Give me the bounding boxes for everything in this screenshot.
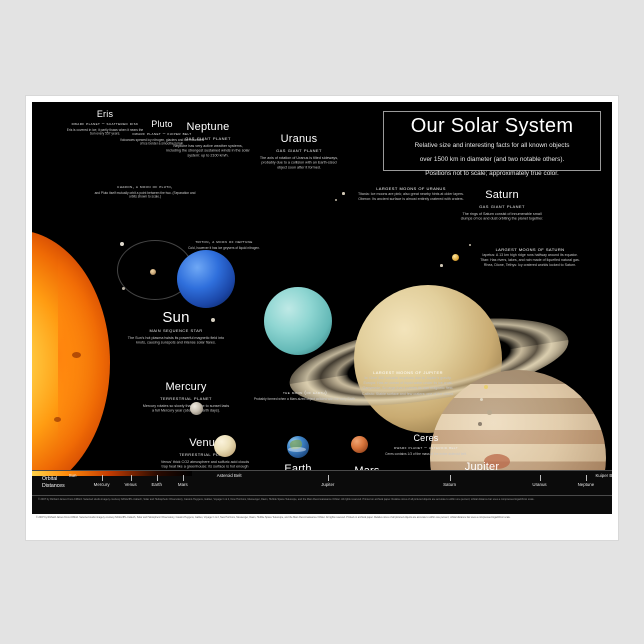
uranus-description: The axis of rotation of Uranus is tilted… <box>258 156 340 170</box>
poster-subtitle-1: Relative size and interesting facts for … <box>384 141 600 151</box>
titan-dot <box>452 254 459 261</box>
orbital-label-jupiter: Jupiter <box>321 482 334 488</box>
mercury-body <box>190 402 203 415</box>
charon-name: Charon, a Moon of Pluto, <box>90 184 200 190</box>
moon-description: Probably formed when a Mars-sized object… <box>253 397 358 401</box>
earth-clouds <box>288 447 306 452</box>
footer-credits-text: © 2007 by Richard James Knox-Clifford. S… <box>36 516 608 520</box>
orbital-tick <box>586 475 587 481</box>
orbital-tick <box>102 475 103 481</box>
poster-footer-white: © 2007 by Richard James Knox-Clifford. S… <box>32 514 612 534</box>
saturn-description: The rings of Saturn consist of innumerab… <box>458 212 545 221</box>
orbital-label-venus: Venus <box>124 482 136 488</box>
orbital-label-saturn: Saturn <box>443 482 456 488</box>
rhea-dot <box>469 244 471 246</box>
ganymede-dot <box>487 410 492 415</box>
orbital-label-mars: Mars <box>178 482 188 488</box>
moon-list-saturn: Largest Moons of Saturn Iapetus: A 13 km… <box>452 247 608 269</box>
neptune-description: Neptune has very active weather systems,… <box>166 144 250 158</box>
mercury-name: Mercury <box>140 382 232 394</box>
sun-description: The Sun's hot plasma twists its powerful… <box>127 336 226 345</box>
sunspot <box>54 417 61 422</box>
caption-uranus: Uranus Gas Giant Planet The axis of rota… <box>256 134 342 171</box>
orbital-title-line-2: Distances <box>42 483 65 489</box>
charon-body <box>122 287 125 290</box>
uranus-class: Gas Giant Planet <box>256 148 342 154</box>
caption-ceres: Ceres Dwarf Planet – Asteroid Belt Ceres… <box>378 434 474 456</box>
caption-sun: Sun Main Sequence Star The Sun's hot pla… <box>124 310 228 346</box>
saturn-name: Saturn <box>456 190 548 202</box>
caption-triton: Triton, a Moon of Neptune Cold, however … <box>172 237 276 250</box>
triton-name: Triton, a Moon of Neptune <box>172 239 276 245</box>
orbital-tick <box>450 475 451 481</box>
orbital-tick <box>183 475 184 481</box>
caption-saturn: Saturn Gas Giant Planet The rings of Sat… <box>456 190 548 222</box>
io-dot <box>484 385 488 389</box>
saturn-class: Gas Giant Planet <box>456 204 548 210</box>
charon-description: and Pluto itself mutually orbit a point … <box>93 191 198 199</box>
orbital-tick <box>157 475 158 481</box>
venus-class: Terrestrial Planet <box>158 452 252 458</box>
ceres-description: Ceres contains 1/3 of the mass of the en… <box>380 452 471 456</box>
poster-frame: Our Solar System Relative size and inter… <box>26 96 618 540</box>
neptune-body <box>177 250 235 308</box>
orbital-label-earth: Earth <box>151 482 162 488</box>
caption-moon: The Moon (of Earth) Probably formed when… <box>250 388 360 401</box>
orbital-title: Orbital Distances <box>42 476 65 490</box>
orbital-distance-bar: Orbital Distances Sun Mercury Venus Eart… <box>32 470 612 496</box>
pluto-body <box>150 269 156 275</box>
mercury-description: Mercury rotates so slowly that sunrise t… <box>142 404 229 413</box>
venus-body <box>214 435 236 457</box>
titania-dot <box>342 192 345 195</box>
caption-charon: Charon, a Moon of Pluto, and Pluto itsel… <box>90 182 200 199</box>
uranus-body <box>264 287 332 355</box>
orbital-tick <box>328 475 329 481</box>
poster-subtitle-2: over 1500 km in diameter (and two notabl… <box>384 155 600 165</box>
orbital-label-sun: Sun <box>69 473 77 479</box>
ceres-class: Dwarf Planet – Asteroid Belt <box>378 445 474 451</box>
credit-strip: © 2007 by Richard James Knox-Clifford. S… <box>32 496 612 514</box>
saturn-moon-line: Rhea, Dione, Tethys: Icy cratered worlds… <box>452 263 608 268</box>
orbital-tick <box>540 475 541 481</box>
neptune-name: Neptune <box>164 122 252 134</box>
neptune-class: Gas Giant Planet <box>164 136 252 142</box>
sun-name: Sun <box>124 310 228 326</box>
mercury-class: Terrestrial Planet <box>140 396 232 402</box>
eris-body <box>120 242 124 246</box>
iapetus-dot <box>440 264 443 267</box>
eris-name: Eris <box>62 110 148 119</box>
poster-artwork: Our Solar System Relative size and inter… <box>32 102 612 514</box>
caption-mercury: Mercury Terrestrial Planet Mercury rotat… <box>140 382 232 414</box>
credits-text: © 2007 by Richard James Knox-Clifford. S… <box>38 498 606 502</box>
orbital-label-neptune: Neptune <box>578 482 595 488</box>
orbital-label-mercury: Mercury <box>94 482 110 488</box>
orbital-tick <box>131 475 132 481</box>
sunspot <box>72 352 81 358</box>
ceres-name: Ceres <box>378 434 474 443</box>
orbital-title-line-1: Orbital <box>42 476 57 482</box>
triton-description: Cold, however it has ice geysers of liqu… <box>175 246 274 250</box>
mars-body <box>351 436 368 453</box>
orbital-label-asteroid-belt: Asteroid Belt <box>214 473 244 479</box>
venus-name: Venus <box>158 438 252 450</box>
page-title: Our Solar System <box>384 116 600 137</box>
orbital-label-uranus: Uranus <box>532 482 546 488</box>
poster-subtitle-3: Positions not to scale; approximately tr… <box>384 169 600 179</box>
uranus-name: Uranus <box>256 134 342 146</box>
sun-class: Main Sequence Star <box>124 328 228 334</box>
poster-title-box: Our Solar System Relative size and inter… <box>383 111 601 171</box>
orbital-label-kuiper-belt: Kuiper Belt <box>593 473 612 479</box>
moon-name: The Moon (of Earth) <box>250 390 360 396</box>
caption-neptune: Neptune Gas Giant Planet Neptune has ver… <box>164 122 252 159</box>
